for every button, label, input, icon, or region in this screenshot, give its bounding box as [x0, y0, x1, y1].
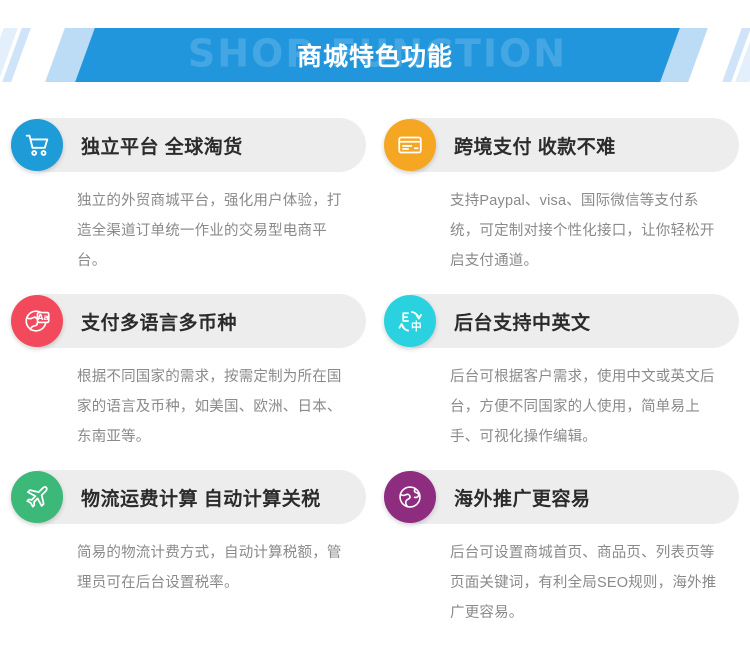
- feature-title: 物流运费计算 自动计算关税: [81, 484, 321, 511]
- feature-description: 独立的外贸商城平台，强化用户体验，打造全渠道订单统一作业的交易型电商平台。: [77, 186, 366, 276]
- feature-title: 独立平台 全球淘货: [81, 132, 243, 159]
- page-title: 商城特色功能: [0, 28, 750, 82]
- feature-card-header: 跨境支付 收款不难: [384, 118, 739, 172]
- airplane-icon: [11, 471, 63, 523]
- feature-card-header: 物流运费计算 自动计算关税: [11, 470, 366, 524]
- feature-card-header: 独立平台 全球淘货: [11, 118, 366, 172]
- feature-description: 支持Paypal、visa、国际微信等支付系统，可定制对接个性化接口，让你轻松开…: [450, 186, 739, 276]
- globe-promotion-icon: [384, 471, 436, 523]
- feature-card-header: 海外推广更容易: [384, 470, 739, 524]
- svg-text:Aa: Aa: [37, 313, 48, 322]
- translate-icon: 中: [384, 295, 436, 347]
- shopping-cart-icon: [11, 119, 63, 171]
- feature-description: 后台可根据客户需求，使用中文或英文后台，方便不同国家的人使用，简单易上手、可视化…: [450, 362, 739, 452]
- feature-card[interactable]: 海外推广更容易 后台可设置商城首页、商品页、列表页等页面关键词，有利全局SEO规…: [384, 470, 739, 640]
- svg-text:中: 中: [410, 319, 421, 332]
- feature-card[interactable]: 中 后台支持中英文 后台可根据客户需求，使用中文或英文后台，方便不同国家的人使用…: [384, 294, 739, 464]
- feature-title: 海外推广更容易: [454, 484, 591, 511]
- credit-card-icon: [384, 119, 436, 171]
- feature-title: 跨境支付 收款不难: [454, 132, 616, 159]
- feature-card[interactable]: 物流运费计算 自动计算关税 简易的物流计费方式，自动计算税额，管理员可在后台设置…: [11, 470, 366, 640]
- feature-title: 后台支持中英文: [454, 308, 591, 335]
- feature-card-header: Aa 支付多语言多币种: [11, 294, 366, 348]
- feature-card[interactable]: 独立平台 全球淘货 独立的外贸商城平台，强化用户体验，打造全渠道订单统一作业的交…: [11, 118, 366, 288]
- feature-grid: 独立平台 全球淘货 独立的外贸商城平台，强化用户体验，打造全渠道订单统一作业的交…: [0, 88, 750, 640]
- feature-card[interactable]: Aa 支付多语言多币种 根据不同国家的需求，按需定制为所在国家的语言及币种，如美…: [11, 294, 366, 464]
- feature-description: 后台可设置商城首页、商品页、列表页等页面关键词，有利全局SEO规则，海外推广更容…: [450, 538, 739, 628]
- page-header-banner: SHOP FUNCTION 商城特色功能: [0, 0, 750, 88]
- feature-description: 简易的物流计费方式，自动计算税额，管理员可在后台设置税率。: [77, 538, 366, 598]
- feature-title: 支付多语言多币种: [81, 308, 237, 335]
- globe-language-icon: Aa: [11, 295, 63, 347]
- feature-card[interactable]: 跨境支付 收款不难 支持Paypal、visa、国际微信等支付系统，可定制对接个…: [384, 118, 739, 288]
- feature-description: 根据不同国家的需求，按需定制为所在国家的语言及币种，如美国、欧洲、日本、东南亚等…: [77, 362, 366, 452]
- feature-card-header: 中 后台支持中英文: [384, 294, 739, 348]
